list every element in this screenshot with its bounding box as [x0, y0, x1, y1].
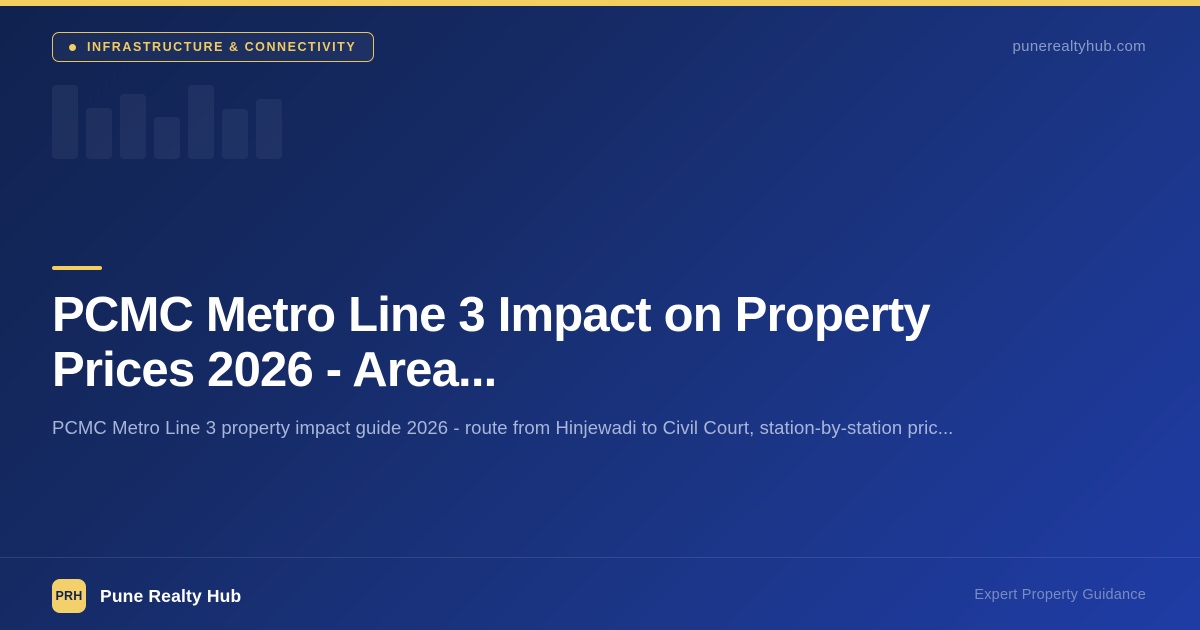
- bullet-dot-icon: [69, 44, 76, 51]
- category-badge-label: INFRASTRUCTURE & CONNECTIVITY: [87, 41, 356, 54]
- decorative-bar: [120, 94, 146, 159]
- decorative-bar: [86, 108, 112, 159]
- decorative-bar-chart: [52, 85, 300, 159]
- footer-brand[interactable]: PRH Pune Realty Hub: [52, 579, 241, 613]
- decorative-bar: [188, 85, 214, 159]
- decorative-bar: [222, 109, 248, 159]
- brand-logo: PRH: [52, 579, 86, 613]
- title-accent-rule: [52, 266, 102, 270]
- og-card: INFRASTRUCTURE & CONNECTIVITY punerealty…: [0, 0, 1200, 630]
- decorative-bar: [52, 85, 78, 159]
- top-accent-bar: [0, 0, 1200, 6]
- footer-divider: [0, 557, 1200, 558]
- page-title: PCMC Metro Line 3 Impact on Property Pri…: [52, 288, 1082, 398]
- site-url: punerealtyhub.com: [1012, 38, 1146, 55]
- brand-name: Pune Realty Hub: [100, 586, 241, 607]
- footer-tagline: Expert Property Guidance: [974, 587, 1146, 603]
- category-badge[interactable]: INFRASTRUCTURE & CONNECTIVITY: [52, 32, 374, 62]
- page-subtitle: PCMC Metro Line 3 property impact guide …: [52, 415, 1062, 442]
- decorative-bar: [154, 117, 180, 159]
- decorative-bar: [256, 99, 282, 159]
